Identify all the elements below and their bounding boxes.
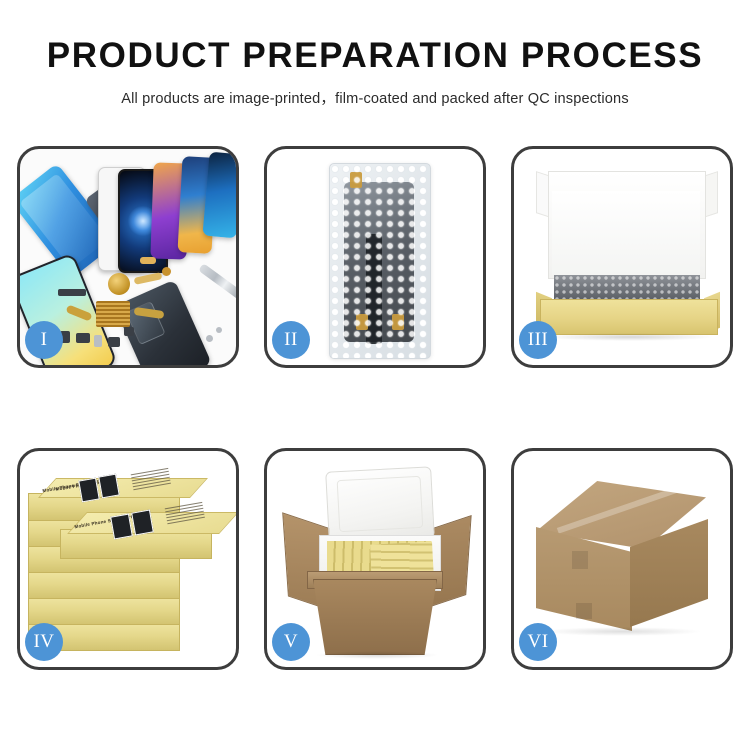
page-subtitle: All products are image-printed，film-coat… <box>0 87 750 108</box>
bubble-wrap-bag <box>329 163 431 359</box>
screw-1 <box>206 335 213 342</box>
step-badge-5: V <box>272 623 310 661</box>
speaker-component <box>108 273 130 295</box>
page-header: PRODUCT PREPARATION PROCESS All products… <box>0 0 750 108</box>
small-part-8 <box>162 267 171 276</box>
step-panel-1[interactable]: I <box>17 146 239 368</box>
carton-tab-upper <box>572 551 588 569</box>
grey-foam-padding <box>554 275 700 301</box>
stacked-box-4 <box>28 571 180 599</box>
process-steps-grid: I II III <box>17 146 733 692</box>
small-part-6 <box>124 327 134 336</box>
stacked-box-5 <box>28 597 180 625</box>
connector-top <box>350 172 362 188</box>
carton-shadow <box>542 627 702 636</box>
page-title: PRODUCT PREPARATION PROCESS <box>0 38 750 73</box>
small-part-7 <box>140 257 156 264</box>
step-badge-4: IV <box>25 623 63 661</box>
step-badge-1: I <box>25 321 63 359</box>
small-part-3 <box>76 333 90 343</box>
small-part-1 <box>58 289 86 296</box>
step-panel-6[interactable]: VI <box>511 448 733 670</box>
wrapped-flex-cable <box>366 234 382 344</box>
logic-board-component <box>96 301 130 327</box>
foam-cooler-lid <box>325 466 435 543</box>
carton-tab-lower <box>576 603 592 619</box>
flex-cable-b <box>134 272 163 285</box>
box-print-image-b1 <box>110 514 133 540</box>
carton-shadow <box>315 651 439 659</box>
carton-body <box>313 579 437 655</box>
step-panel-5[interactable]: V <box>264 448 486 670</box>
box-print-image-a1 <box>78 478 100 503</box>
connector-bottom-right <box>392 314 404 330</box>
box-print-image-a2 <box>98 474 120 499</box>
connector-bottom-left <box>356 314 368 330</box>
step-panel-2[interactable]: II <box>264 146 486 368</box>
step-panel-4[interactable]: Mobile Phone Spare Parts Mobile Phone Sp… <box>17 448 239 670</box>
step-panel-3[interactable]: III <box>511 146 733 368</box>
yellow-box-front <box>540 299 718 335</box>
box-print-image-b2 <box>131 510 154 536</box>
screw-2 <box>216 327 222 333</box>
step-badge-3: III <box>519 321 557 359</box>
screwdriver-tool <box>198 263 236 300</box>
small-part-5 <box>108 337 120 347</box>
step-badge-6: VI <box>519 623 557 661</box>
step-badge-2: II <box>272 321 310 359</box>
small-part-4 <box>94 335 102 347</box>
box-shadow <box>544 333 714 341</box>
white-foam-sheet <box>552 191 700 275</box>
